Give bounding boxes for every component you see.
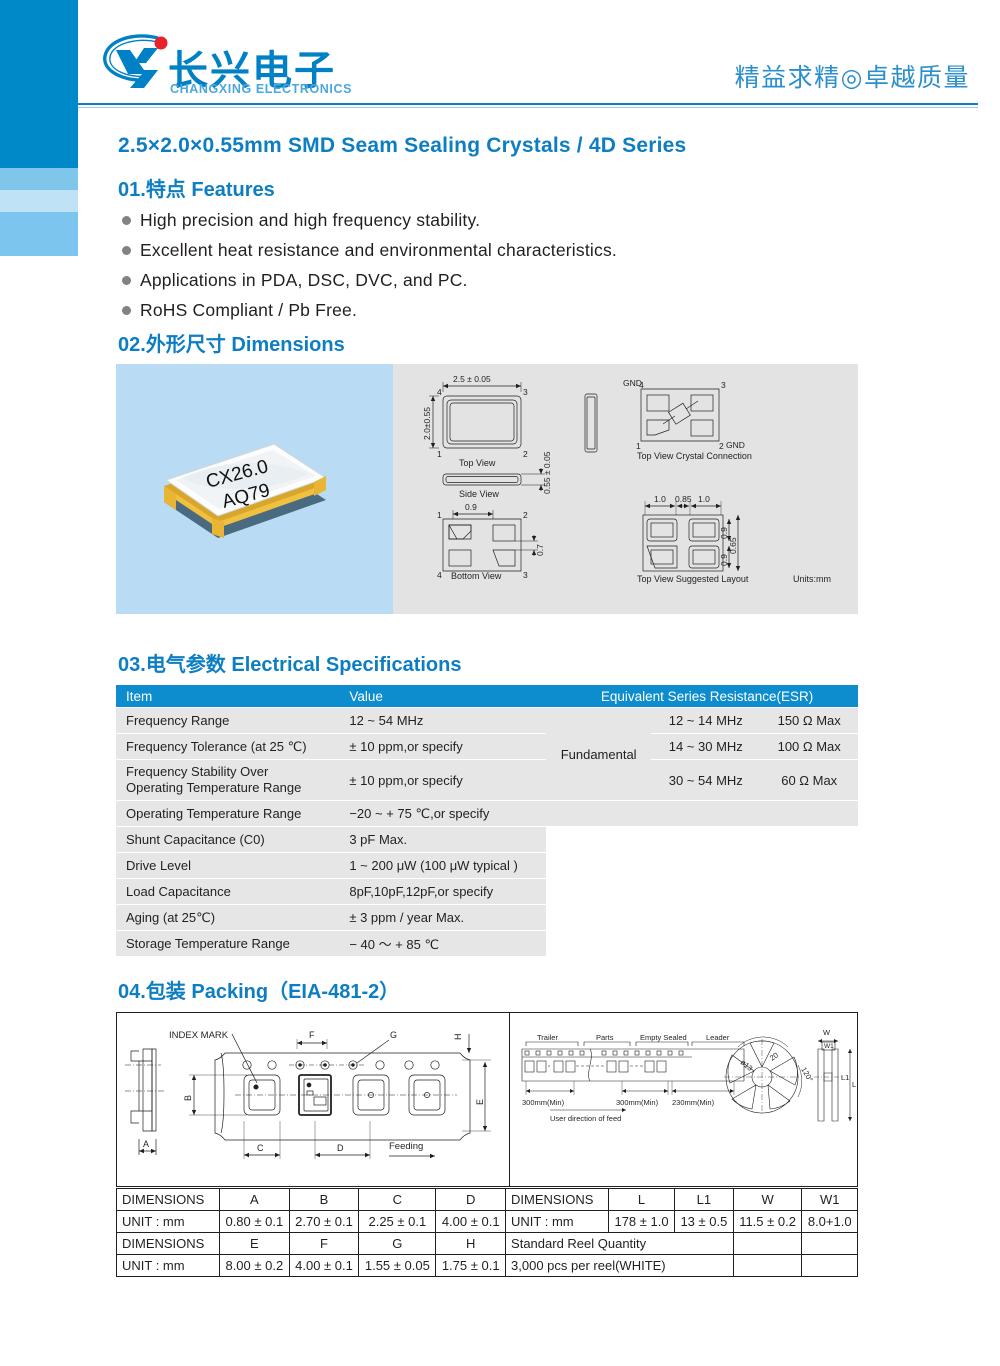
bullet-icon: [122, 246, 131, 255]
section-title-en: Electrical Specifications: [231, 654, 461, 676]
tape-drawing: A: [117, 1013, 507, 1186]
cell-esr-filler: [546, 931, 858, 956]
panel-divider: [509, 1013, 510, 1186]
cell-value: ± 10 ppm,or specify: [339, 734, 546, 759]
dimensions-panel: CX26.0 AQ79 2.5 ± 0.05: [116, 364, 858, 614]
cell-item: Frequency Range: [116, 708, 339, 733]
cell: 0.80 ± 0.1: [220, 1211, 290, 1233]
section-heading-electrical: 03.电气参数 Electrical Specifications: [118, 648, 461, 677]
table-row: Load Capacitance 8pF,10pF,12pF,or specif…: [116, 879, 858, 904]
cell: 11.5 ± 0.2: [733, 1211, 802, 1233]
section-heading-dimensions: 02.外形尺寸 Dimensions: [118, 328, 345, 357]
gnd-label-right: GND: [726, 440, 745, 450]
section-number: 04.: [118, 981, 146, 1003]
cell-value: 3 pF Max.: [339, 827, 546, 852]
table-row: Drive Level 1 ~ 200 μW (100 μW typical ): [116, 853, 858, 878]
dim-letter-H: H: [453, 1034, 463, 1041]
dim-letter-F: F: [309, 1030, 315, 1040]
section-heading-packing: 04.包装 Packing（EIA-481-2）: [118, 975, 399, 1004]
cell: L1: [675, 1189, 734, 1211]
reel-width-W: W: [823, 1028, 831, 1037]
cell-esr-value: 150 Ω Max: [760, 708, 858, 733]
dim-top-height: 2.0±0.55: [422, 407, 432, 440]
pin-label-1: 1: [636, 441, 641, 451]
dim-thickness: 0.55 ± 0.05: [542, 451, 552, 494]
parts-label: Parts: [596, 1033, 614, 1042]
dim-pad-gap: 0.7: [535, 544, 545, 556]
cell-value: − 40 ～ + 85 ℃: [339, 931, 546, 956]
units-note: Units:mm: [793, 574, 831, 584]
pin-label-4: 4: [639, 380, 644, 390]
mechanical-drawings: 2.5 ± 0.05 2.0±0.55 4 3 1 2 Top View: [393, 364, 858, 614]
section-title-cn: 电气参数: [146, 652, 226, 676]
reel-L: L: [852, 1080, 856, 1089]
reel-width-W1: W1: [824, 1043, 834, 1050]
cell-esr-value: 60 Ω Max: [760, 760, 858, 800]
index-mark-label: INDEX MARK: [169, 1030, 229, 1041]
cell-esr-filler: [546, 827, 858, 852]
bullet-icon: [122, 306, 131, 315]
pin-label-2: 2: [523, 449, 528, 459]
cell: 4.00 ± 0.1: [436, 1211, 506, 1233]
section-title-en: Dimensions: [231, 334, 344, 356]
dim-letter-A: A: [143, 1139, 149, 1149]
section-title-en: Packing（EIA-481-2）: [191, 981, 399, 1003]
row-label: UNIT : mm: [117, 1211, 220, 1233]
reel-angle: 120°: [799, 1066, 815, 1084]
cell-value: ± 3 ppm / year Max.: [339, 905, 546, 930]
table-row: Frequency Tolerance (at 25 ℃) ± 10 ppm,o…: [116, 734, 858, 759]
table-row: Operating Temperature Range −20 ~ + 75 ℃…: [116, 801, 858, 826]
pin-label-2: 2: [523, 510, 528, 520]
sidebar-accent-bar: [0, 0, 78, 168]
cell: E: [220, 1233, 290, 1255]
table-row: Storage Temperature Range − 40 ～ + 85 ℃: [116, 931, 858, 956]
cell-value: −20 ~ + 75 ℃,or specify: [339, 801, 546, 826]
cell: F: [289, 1233, 359, 1255]
cell: 4.00 ± 0.1: [289, 1255, 359, 1277]
caption-crystal-connection: Top View Crystal Connection: [637, 451, 752, 461]
table-row: DIMENSIONS E F G H Standard Reel Quantit…: [117, 1233, 858, 1255]
pin-label-4: 4: [437, 387, 442, 397]
cell: 8.00 ± 0.2: [220, 1255, 290, 1277]
column-header-item: Item: [116, 685, 339, 707]
cell-value: 1 ~ 200 μW (100 μW typical ): [339, 853, 546, 878]
cell-value: 12 ~ 54 MHz: [339, 708, 546, 733]
cell-item-line1: Frequency Stability Over: [126, 764, 339, 780]
electrical-specifications-table: Item Value Equivalent Series Resistance(…: [116, 684, 858, 957]
section-number: 03.: [118, 654, 146, 676]
section-title-cn: 外形尺寸: [146, 332, 226, 356]
cell-item: Load Capacitance: [116, 879, 339, 904]
dim-letter-G: G: [390, 1030, 397, 1040]
header-divider: [78, 103, 978, 105]
section-title-cn: 特点: [146, 177, 186, 201]
row-label: DIMENSIONS: [506, 1189, 609, 1211]
list-item: High precision and high frequency stabil…: [122, 208, 742, 233]
standard-reel-quantity-value: 3,000 pcs per reel(WHITE): [506, 1255, 734, 1277]
cell-esr-range: 30 ~ 54 MHz: [651, 760, 760, 800]
cell: D: [436, 1189, 506, 1211]
layout-pad-gap: 0.65: [728, 537, 738, 554]
cell: 2.70 ± 0.1: [289, 1211, 359, 1233]
cell-item: Storage Temperature Range: [116, 931, 339, 956]
layout-pad-h-top: 0.9: [719, 527, 729, 539]
pin-label-3: 3: [523, 387, 528, 397]
header-divider-thin: [78, 107, 978, 108]
layout-dim-left: 1.0: [654, 494, 666, 504]
sidebar-band-2: [0, 190, 78, 212]
crystal-package-illustration: CX26.0 AQ79: [156, 426, 356, 556]
features-list: High precision and high frequency stabil…: [122, 208, 742, 327]
cell: G: [359, 1233, 436, 1255]
feature-text: RoHS Compliant / Pb Free.: [140, 298, 357, 323]
cell: 8.0+1.0: [802, 1211, 858, 1233]
section-title-en: Features: [191, 179, 274, 201]
feeding-label: Feeding: [389, 1141, 423, 1152]
cell: C: [359, 1189, 436, 1211]
cell: [802, 1255, 858, 1277]
cell: 13 ± 0.5: [675, 1211, 734, 1233]
table-header-row: Item Value Equivalent Series Resistance(…: [116, 685, 858, 707]
cell: 1.55 ± 0.05: [359, 1255, 436, 1277]
pin-label-2: 2: [719, 441, 724, 451]
layout-dim-right: 1.0: [698, 494, 710, 504]
column-header-esr: Equivalent Series Resistance(ESR): [546, 685, 858, 707]
hub-dim: ø13: [739, 1058, 755, 1073]
list-item: RoHS Compliant / Pb Free.: [122, 298, 742, 323]
cell-esr-filler: [546, 905, 858, 930]
packing-diagram-panel: A: [116, 1012, 858, 1187]
table-row: Frequency Range 12 ~ 54 MHz Fundamental …: [116, 708, 858, 733]
cell-item: Frequency Tolerance (at 25 ℃): [116, 734, 339, 759]
empty-sealed-label: Empty Sealed: [640, 1033, 687, 1042]
section-number: 02.: [118, 334, 146, 356]
page-title: 2.5×2.0×0.55mm SMD Seam Sealing Crystals…: [118, 134, 686, 158]
leader-length: 230mm(Min): [672, 1098, 715, 1107]
trailer-length: 300mm(Min): [522, 1098, 565, 1107]
packing-dimensions-table: DIMENSIONS A B C D DIMENSIONS L L1 W W1 …: [116, 1188, 858, 1277]
cell: B: [289, 1189, 359, 1211]
reel-drawing: Trailer Parts Empty Sealed Leader: [512, 1013, 857, 1186]
list-item: Applications in PDA, DSC, DVC, and PC.: [122, 268, 742, 293]
cell-item-line2: Operating Temperature Range: [126, 780, 339, 796]
cell: [733, 1255, 802, 1277]
caption-bottom-view: Bottom View: [451, 571, 502, 581]
dim-letter-C: C: [257, 1143, 264, 1153]
leader-label: Leader: [706, 1033, 730, 1042]
caption-suggested-layout: Top View Suggested Layout: [637, 574, 749, 584]
pin-label-3: 3: [523, 570, 528, 580]
dim-pad-pitch: 0.9: [465, 502, 477, 512]
cell-esr-filler: [546, 801, 858, 826]
pin-label-3: 3: [721, 380, 726, 390]
cell: 178 ± 1.0: [609, 1211, 675, 1233]
cell-item: Drive Level: [116, 853, 339, 878]
table-row: UNIT : mm 8.00 ± 0.2 4.00 ± 0.1 1.55 ± 0…: [117, 1255, 858, 1277]
bullet-icon: [122, 276, 131, 285]
column-header-value: Value: [339, 685, 546, 707]
section-title-cn: 包装: [146, 979, 186, 1003]
section-number: 01.: [118, 179, 146, 201]
cell-value: ± 10 ppm,or specify: [339, 760, 546, 800]
cell: 2.25 ± 0.1: [359, 1211, 436, 1233]
cell-esr-filler: [546, 853, 858, 878]
dim-letter-E: E: [475, 1099, 485, 1105]
trailer-label: Trailer: [537, 1033, 558, 1042]
sidebar-band-3: [0, 212, 78, 256]
pin-label-1: 1: [437, 449, 442, 459]
caption-top-view: Top View: [459, 458, 496, 468]
cell-esr-value: 100 Ω Max: [760, 734, 858, 759]
cell: W1: [802, 1189, 858, 1211]
cell-value: 8pF,10pF,12pF,or specify: [339, 879, 546, 904]
brand-tagline: 精益求精◎卓越质量: [735, 58, 970, 94]
empty-length: 300mm(Min): [616, 1098, 659, 1107]
product-photo: CX26.0 AQ79: [116, 364, 393, 614]
cell: [733, 1233, 802, 1255]
cell: L: [609, 1189, 675, 1211]
cell: A: [220, 1189, 290, 1211]
hub-dim-2: 20: [768, 1050, 780, 1062]
caption-side-view: Side View: [459, 489, 499, 499]
table-row: Frequency Stability OverOperating Temper…: [116, 760, 858, 800]
table-row: UNIT : mm 0.80 ± 0.1 2.70 ± 0.1 2.25 ± 0…: [117, 1211, 858, 1233]
table-row: Shunt Capacitance (C0) 3 pF Max.: [116, 827, 858, 852]
reel-L1: L1: [841, 1073, 849, 1082]
cell-esr-range: 12 ~ 14 MHz: [651, 708, 760, 733]
layout-pad-h-bottom: 0.9: [719, 554, 729, 566]
dim-top-width: 2.5 ± 0.05: [453, 374, 491, 384]
sidebar-band-1: [0, 168, 78, 190]
row-label: DIMENSIONS: [117, 1189, 220, 1211]
feature-text: High precision and high frequency stabil…: [140, 208, 480, 233]
feed-direction-note: User direction of feed: [550, 1114, 621, 1123]
cell: 1.75 ± 0.1: [436, 1255, 506, 1277]
pin-label-1: 1: [437, 510, 442, 520]
cell: [802, 1233, 858, 1255]
section-heading-features: 01.特点 Features: [118, 173, 275, 202]
bullet-icon: [122, 216, 131, 225]
cell-esr-mode: Fundamental: [546, 708, 651, 800]
cell: H: [436, 1233, 506, 1255]
feature-text: Applications in PDA, DSC, DVC, and PC.: [140, 268, 468, 293]
datasheet-page: 长兴电子 CHANGXING ELECTRONICS 精益求精◎卓越质量 2.5…: [0, 0, 1000, 1366]
row-label: DIMENSIONS: [117, 1233, 220, 1255]
table-row: DIMENSIONS A B C D DIMENSIONS L L1 W W1: [117, 1189, 858, 1211]
cell-esr-filler: [546, 879, 858, 904]
cell-item: Frequency Stability OverOperating Temper…: [116, 760, 339, 800]
feature-text: Excellent heat resistance and environmen…: [140, 238, 617, 263]
dim-letter-D: D: [337, 1143, 344, 1153]
row-label: UNIT : mm: [117, 1255, 220, 1277]
cell-item: Operating Temperature Range: [116, 801, 339, 826]
cell-item: Aging (at 25℃): [116, 905, 339, 930]
pin-label-4: 4: [437, 570, 442, 580]
dim-letter-B: B: [183, 1095, 193, 1101]
row-label: UNIT : mm: [506, 1211, 609, 1233]
cell-item: Shunt Capacitance (C0): [116, 827, 339, 852]
table-row: Aging (at 25℃) ± 3 ppm / year Max.: [116, 905, 858, 930]
list-item: Excellent heat resistance and environmen…: [122, 238, 742, 263]
layout-dim-mid: 0.85: [675, 494, 692, 504]
cell-esr-range: 14 ~ 30 MHz: [651, 734, 760, 759]
cell: W: [733, 1189, 802, 1211]
standard-reel-quantity-label: Standard Reel Quantity: [506, 1233, 734, 1255]
logo-text-en: CHANGXING ELECTRONICS: [170, 82, 352, 96]
